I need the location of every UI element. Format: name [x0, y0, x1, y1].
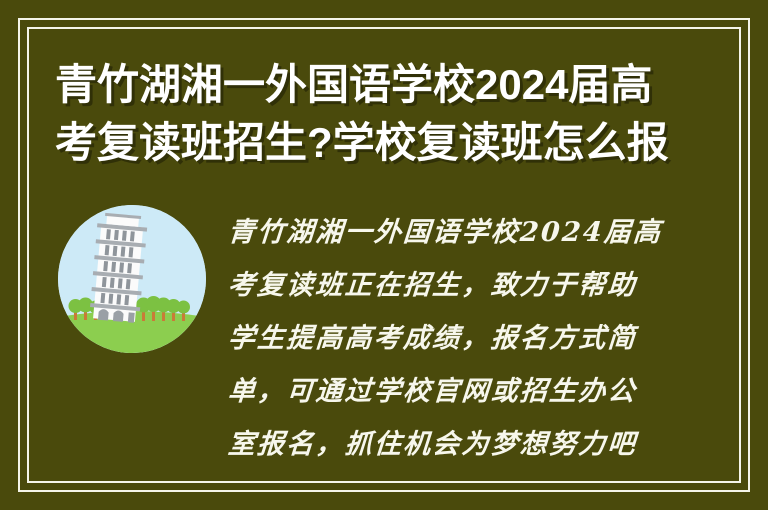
page-title: 青竹湖湘一外国语学校2024届高 考复读班招生?学校复读班怎么报 — [55, 56, 675, 172]
title-line-2: 考复读班招生?学校复读班怎么报 — [55, 114, 675, 172]
title-line-1: 青竹湖湘一外国语学校2024届高 — [55, 56, 675, 114]
body-text: 青竹湖湘一外国语学校2024届高 考复读班正在招生，致力于帮助 学生提高高考成绩… — [228, 206, 690, 471]
body-line-5: 室报名，抓住机会为梦想努力吧 — [226, 418, 692, 471]
body-line-1: 青竹湖湘一外国语学校2024届高 — [226, 206, 692, 259]
body-line-3: 学生提高高考成绩，报名方式简 — [226, 312, 692, 365]
poster-canvas: 青竹湖湘一外国语学校2024届高 考复读班招生?学校复读班怎么报 — [0, 0, 768, 510]
leaning-tower-illustration — [58, 205, 206, 353]
body-line-2: 考复读班正在招生，致力于帮助 — [226, 259, 692, 312]
leaning-tower-icon — [58, 205, 206, 353]
body-line-4: 单，可通过学校官网或招生办公 — [226, 365, 692, 418]
